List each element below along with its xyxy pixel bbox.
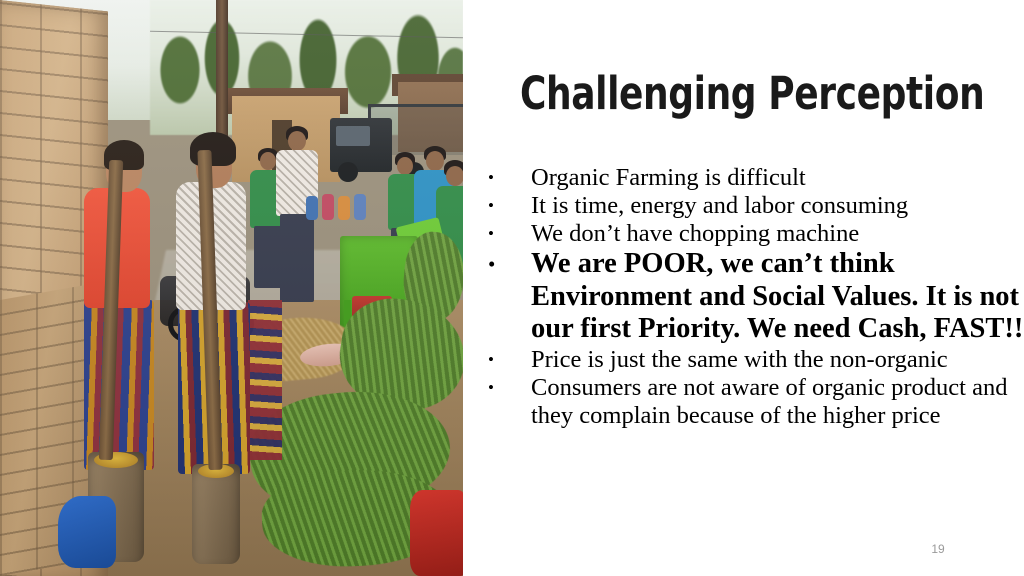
villager-head-4 <box>426 151 444 171</box>
photo-scene <box>0 0 463 576</box>
list-item-text: Consumers are not aware of organic produ… <box>531 374 1024 430</box>
list-item-text: It is time, energy and labor consuming <box>531 192 1024 220</box>
page-number: 19 <box>918 542 958 556</box>
blue-plastic-bag <box>58 496 116 568</box>
bullet-marker-icon: • <box>481 248 531 281</box>
bullet-marker-icon: • <box>481 374 531 402</box>
slide-title: Challenging Perception <box>520 68 896 120</box>
list-item: • Organic Farming is difficult <box>481 164 1024 192</box>
bullet-marker-icon: • <box>481 164 531 192</box>
list-item-text: Organic Farming is difficult <box>531 164 1024 192</box>
red-sack <box>410 490 463 576</box>
villager-legs-2 <box>280 214 314 302</box>
slide-photo <box>0 0 463 576</box>
bullet-list: • Organic Farming is difficult • It is t… <box>481 164 1024 430</box>
truck-wheel-front <box>338 162 358 182</box>
villager-head-5 <box>446 166 463 186</box>
woman-orange-sarong <box>84 300 154 470</box>
slide: Challenging Perception • Organic Farming… <box>0 0 1024 576</box>
seated-child-2 <box>322 194 334 220</box>
truck-window <box>336 126 370 146</box>
villager-head-2 <box>288 131 306 151</box>
list-item: • Price is just the same with the non-or… <box>481 346 1024 374</box>
list-item: • We don’t have chopping machine <box>481 220 1024 248</box>
seated-child-3 <box>338 196 350 220</box>
bullet-marker-icon: • <box>481 220 531 248</box>
list-item-text: Price is just the same with the non-orga… <box>531 346 1024 374</box>
content-pane: Challenging Perception • Organic Farming… <box>463 0 1024 576</box>
list-item: • Consumers are not aware of organic pro… <box>481 374 1024 430</box>
mortar-right <box>192 464 240 564</box>
list-item-text: We don’t have chopping machine <box>531 220 1024 248</box>
list-item-text: We are POOR, we can’t think Environment … <box>531 248 1024 346</box>
villager-head-3 <box>397 157 413 175</box>
seated-child-4 <box>354 194 366 220</box>
villager-legs <box>254 226 282 288</box>
hanging-cloth <box>248 300 282 460</box>
bullet-marker-icon: • <box>481 346 531 374</box>
list-item: • It is time, energy and labor consuming <box>481 192 1024 220</box>
villager-head <box>260 152 276 170</box>
list-item-emphasized: • We are POOR, we can’t think Environmen… <box>481 248 1024 346</box>
bullet-marker-icon: • <box>481 192 531 220</box>
seated-child-1 <box>306 196 318 220</box>
wooden-post <box>216 0 228 150</box>
